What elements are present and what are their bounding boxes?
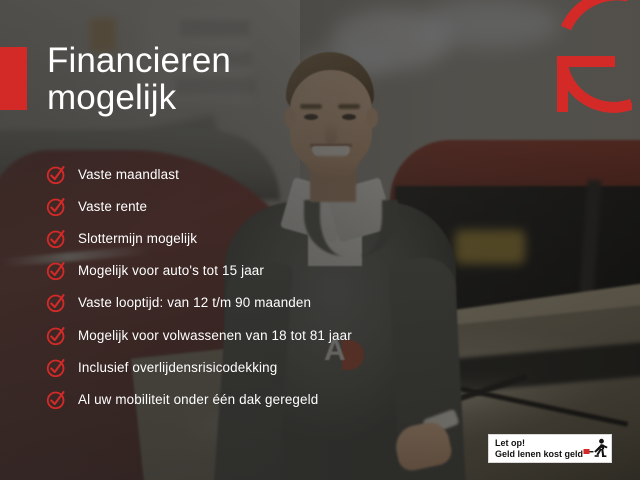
list-item: Mogelijk voor volwassenen van 18 tot 81 … [46,319,352,351]
check-circle-icon [46,228,67,249]
warning-badge-line2: Geld lenen kost geld [495,449,583,459]
list-item: Al uw mobiliteit onder één dak geregeld [46,383,352,415]
check-circle-icon [46,292,67,313]
list-item-label: Slottermijn mogelijk [78,231,197,246]
list-item-label: Al uw mobiliteit onder één dak geregeld [78,392,318,407]
circular-arrow-logo-icon [546,0,632,118]
list-item: Mogelijk voor auto's tot 15 jaar [46,255,352,287]
list-item: Vaste looptijd: van 12 t/m 90 maanden [46,287,352,319]
check-circle-icon [46,325,67,346]
list-item: Vaste rente [46,190,352,222]
list-item-label: Mogelijk voor volwassenen van 18 tot 81 … [78,328,352,343]
list-item-label: Mogelijk voor auto's tot 15 jaar [78,263,264,278]
check-circle-icon [46,357,67,378]
list-item-label: Vaste rente [78,199,147,214]
warning-badge-text: Let op! Geld lenen kost geld [495,438,583,459]
list-item: Inclusief overlijdensrisicodekking [46,351,352,383]
list-item-label: Vaste looptijd: van 12 t/m 90 maanden [78,295,311,310]
check-circle-icon [46,164,67,185]
feature-list: Vaste maandlast Vaste rente Slottermijn … [46,158,352,416]
walking-person-icon [583,438,609,460]
list-item: Vaste maandlast [46,158,352,190]
list-item: Slottermijn mogelijk [46,222,352,254]
check-circle-icon [46,260,67,281]
list-item-label: Inclusief overlijdensrisicodekking [78,360,277,375]
warning-badge-line1: Let op! [495,438,583,448]
list-item-label: Vaste maandlast [78,167,179,182]
financing-promo-banner: A Financieren mogelijk [0,0,640,480]
page-title: Financieren mogelijk [47,42,231,116]
check-circle-icon [46,389,67,410]
check-circle-icon [46,196,67,217]
warning-badge: Let op! Geld lenen kost geld [488,434,612,463]
accent-bar [0,47,27,110]
